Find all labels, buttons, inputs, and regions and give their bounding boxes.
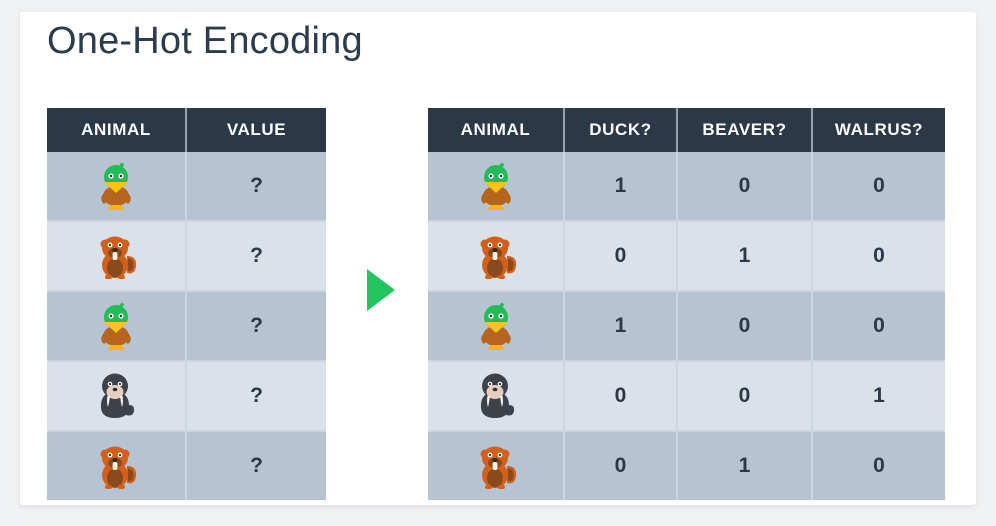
duck-icon bbox=[94, 160, 138, 212]
table-header-row: ANIMAL DUCK? BEAVER? WALRUS? bbox=[428, 108, 945, 152]
beaver-icon bbox=[94, 440, 138, 492]
slide-canvas: One-Hot Encoding ANIMAL VALUE ????? ANIM… bbox=[0, 0, 996, 526]
cell-walrus: 0 bbox=[812, 431, 945, 500]
column-header-duck: DUCK? bbox=[564, 108, 677, 152]
cell-beaver: 0 bbox=[677, 361, 812, 431]
cell-beaver: 0 bbox=[677, 291, 812, 361]
table-row: 100 bbox=[428, 152, 945, 221]
cell-beaver: 1 bbox=[677, 221, 812, 291]
beaver-icon bbox=[474, 440, 518, 492]
cell-animal bbox=[47, 431, 186, 500]
original-categorical-table: ANIMAL VALUE ????? bbox=[47, 108, 326, 500]
cell-walrus: 0 bbox=[812, 221, 945, 291]
cell-beaver: 0 bbox=[677, 152, 812, 221]
cell-value: ? bbox=[186, 152, 326, 221]
cell-animal bbox=[428, 431, 564, 500]
cell-walrus: 0 bbox=[812, 152, 945, 221]
cell-value: ? bbox=[186, 291, 326, 361]
cell-animal bbox=[47, 152, 186, 221]
cell-duck: 0 bbox=[564, 221, 677, 291]
table-row: ? bbox=[47, 152, 326, 221]
one-hot-encoded-table: ANIMAL DUCK? BEAVER? WALRUS? 10001010000… bbox=[428, 108, 945, 500]
duck-icon bbox=[474, 300, 518, 352]
table-row: ? bbox=[47, 361, 326, 431]
table-row: 001 bbox=[428, 361, 945, 431]
column-header-animal: ANIMAL bbox=[428, 108, 564, 152]
table-row: ? bbox=[47, 291, 326, 361]
column-header-animal: ANIMAL bbox=[47, 108, 186, 152]
cell-animal bbox=[428, 361, 564, 431]
cell-value: ? bbox=[186, 221, 326, 291]
column-header-beaver: BEAVER? bbox=[677, 108, 812, 152]
page-title: One-Hot Encoding bbox=[47, 20, 363, 63]
cell-animal bbox=[47, 221, 186, 291]
table-row: 010 bbox=[428, 431, 945, 500]
table-row: 010 bbox=[428, 221, 945, 291]
cell-value: ? bbox=[186, 361, 326, 431]
column-header-walrus: WALRUS? bbox=[812, 108, 945, 152]
duck-icon bbox=[94, 300, 138, 352]
column-header-value: VALUE bbox=[186, 108, 326, 152]
beaver-icon bbox=[94, 230, 138, 282]
cell-animal bbox=[428, 221, 564, 291]
walrus-icon bbox=[94, 370, 138, 422]
cell-beaver: 1 bbox=[677, 431, 812, 500]
table-row: ? bbox=[47, 431, 326, 500]
beaver-icon bbox=[474, 230, 518, 282]
cell-animal bbox=[428, 152, 564, 221]
cell-duck: 1 bbox=[564, 152, 677, 221]
table-row: 100 bbox=[428, 291, 945, 361]
cell-duck: 0 bbox=[564, 431, 677, 500]
cell-value: ? bbox=[186, 431, 326, 500]
play-triangle-right-icon bbox=[366, 268, 396, 312]
cell-animal bbox=[47, 291, 186, 361]
cell-duck: 0 bbox=[564, 361, 677, 431]
walrus-icon bbox=[474, 370, 518, 422]
cell-walrus: 1 bbox=[812, 361, 945, 431]
cell-animal bbox=[47, 361, 186, 431]
table-header-row: ANIMAL VALUE bbox=[47, 108, 326, 152]
cell-walrus: 0 bbox=[812, 291, 945, 361]
table-row: ? bbox=[47, 221, 326, 291]
cell-duck: 1 bbox=[564, 291, 677, 361]
duck-icon bbox=[474, 160, 518, 212]
cell-animal bbox=[428, 291, 564, 361]
